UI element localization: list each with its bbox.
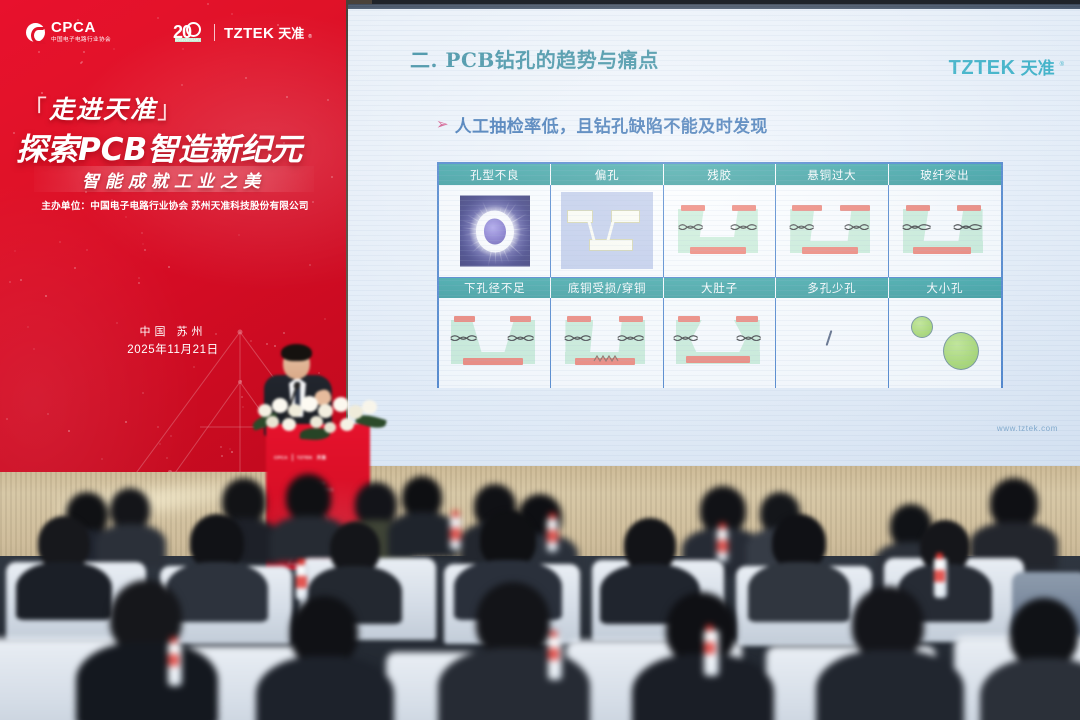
podium-flower-arrangement xyxy=(248,392,392,440)
audience-row-front xyxy=(0,470,1080,720)
podium-logo-divider xyxy=(292,454,293,461)
water-bottle xyxy=(704,630,719,676)
speaker-hair xyxy=(281,344,312,361)
water-bottle xyxy=(548,636,562,680)
podium-logo-tztek-en: TZTEK xyxy=(297,455,313,460)
audience xyxy=(0,470,1080,720)
conference-photo: CPCA 中国电子电路行业协会 20 ANNIVERSARY TZTEK 天准 … xyxy=(0,0,1080,720)
podium-logo-cpca: CPCA xyxy=(274,455,288,460)
podium-logo-tztek-cn: 天准 xyxy=(317,455,327,461)
podium-logo-row: CPCA TZTEK 天准 xyxy=(274,454,362,461)
water-bottle xyxy=(168,642,182,686)
